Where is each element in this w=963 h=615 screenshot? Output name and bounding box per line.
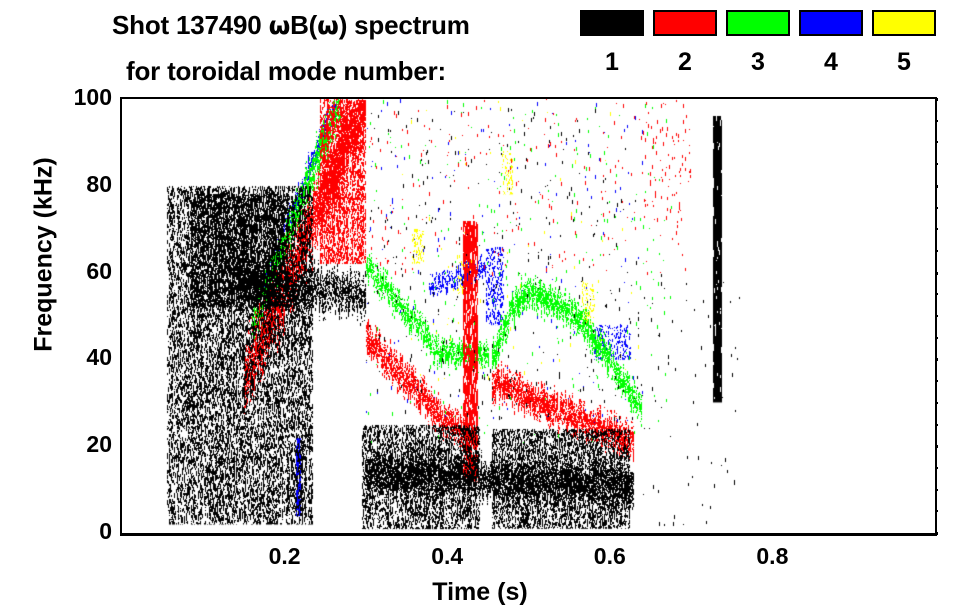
legend-item-mode-n3[interactable]: 3 <box>726 10 790 75</box>
omega-symbol-2: ω <box>317 11 339 40</box>
title-mid: B( <box>290 10 317 40</box>
legend-swatch-mode-n2 <box>653 10 717 36</box>
legend-swatch-mode-n3 <box>726 10 790 36</box>
legend-swatch-mode-n5 <box>872 10 936 36</box>
legend-item-mode-n1[interactable]: 1 <box>580 10 644 75</box>
legend-item-mode-n4[interactable]: 4 <box>799 10 863 75</box>
y-tick-label: 100 <box>26 86 112 109</box>
spectrogram-plot-area[interactable] <box>122 99 935 533</box>
legend-swatch-mode-n4 <box>799 10 863 36</box>
legend-label-mode-n1: 1 <box>580 50 644 75</box>
legend-swatch-mode-n1 <box>580 10 644 36</box>
y-tick-label: 20 <box>26 433 112 456</box>
title-line-2: for toroidal mode number: <box>126 56 446 87</box>
x-tick-label: 0.4 <box>402 545 492 568</box>
legend-label-mode-n3: 3 <box>726 50 790 75</box>
x-axis-title: Time (s) <box>330 578 630 607</box>
x-tick-label: 0.8 <box>727 545 817 568</box>
y-axis-title: Frequency (kHz) <box>30 125 59 385</box>
omega-symbol-1: ω <box>269 11 291 40</box>
title-prefix: Shot 137490 <box>112 10 269 40</box>
x-tick-label: 0.6 <box>565 545 655 568</box>
title-line-1: Shot 137490 ωB(ω) spectrum <box>112 10 470 41</box>
spectrogram-canvas[interactable] <box>122 99 935 533</box>
legend-label-mode-n5: 5 <box>872 50 936 75</box>
legend-label-mode-n2: 2 <box>653 50 717 75</box>
legend-item-mode-n2[interactable]: 2 <box>653 10 717 75</box>
legend-item-mode-n5[interactable]: 5 <box>872 10 936 75</box>
figure-root: Shot 137490 ωB(ω) spectrum for toroidal … <box>0 0 963 615</box>
legend-label-mode-n4: 4 <box>799 50 863 75</box>
y-tick-label: 0 <box>26 520 112 543</box>
title-suffix: ) spectrum <box>339 10 470 40</box>
legend: 12345 <box>580 10 960 95</box>
x-tick-label: 0.2 <box>240 545 330 568</box>
